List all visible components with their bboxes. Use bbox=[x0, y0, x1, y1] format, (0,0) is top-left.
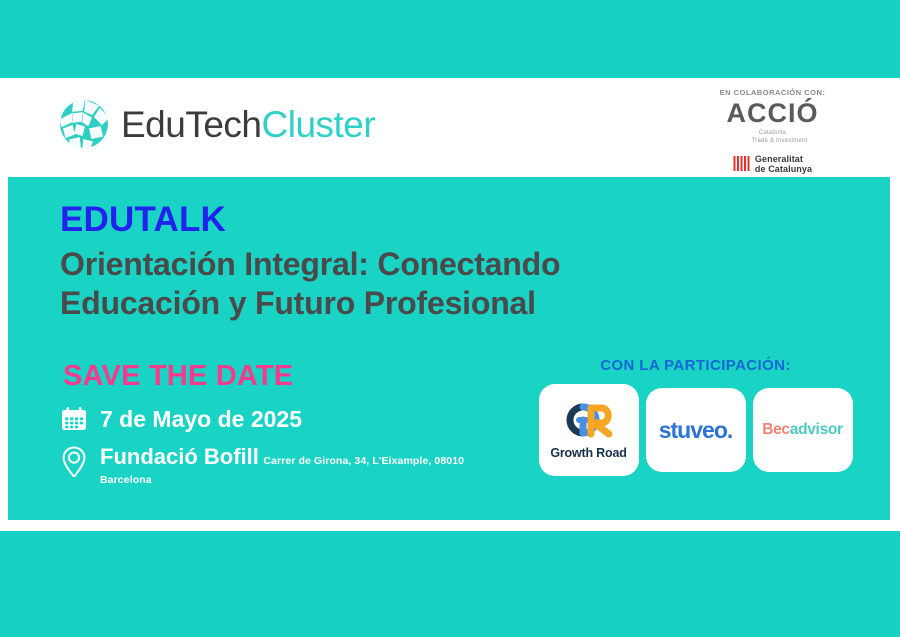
accio-tagline-line2: Trade & Investment bbox=[700, 137, 845, 145]
collaboration-label: EN COLABORACIÓN CON: bbox=[700, 88, 845, 97]
event-date-row: 7 de Mayo de 2025 bbox=[60, 405, 302, 433]
venue-name: Fundació Bofill bbox=[100, 444, 259, 469]
becadvisor-name-part1: Bec bbox=[762, 421, 790, 438]
brand-logo[interactable]: EduTechCluster bbox=[58, 98, 375, 150]
accio-tagline: Catalonia Trade & Investment bbox=[700, 129, 845, 145]
brand-word-cluster: Cluster bbox=[262, 104, 376, 145]
participants-section: CON LA PARTICIPACIÓN: Growth Road stuveo… bbox=[523, 357, 868, 476]
brand-wordmark: EduTechCluster bbox=[121, 106, 375, 143]
participant-logo-strip: Growth Road stuveo. Becadvisor bbox=[523, 384, 868, 476]
gr-monogram-icon bbox=[558, 400, 620, 440]
generalitat-logo: Generalitat de Catalunya bbox=[700, 154, 845, 175]
headline-line-1: Orientación Integral: Conectando bbox=[60, 246, 560, 282]
event-date: 7 de Mayo de 2025 bbox=[100, 408, 302, 431]
growth-road-name: Growth Road bbox=[550, 446, 626, 460]
eyebrow-edutalk: EDUTALK bbox=[60, 202, 226, 237]
becadvisor-name-part2: advisor bbox=[790, 421, 843, 438]
calendar-icon bbox=[60, 405, 88, 433]
top-teal-band bbox=[0, 0, 900, 78]
generalitat-line1: Generalitat bbox=[755, 154, 803, 164]
accio-logo-text: ACCIÓ bbox=[700, 99, 845, 127]
participant-logo-stuveo[interactable]: stuveo. bbox=[646, 388, 746, 472]
bottom-teal-band bbox=[0, 531, 900, 637]
generalitat-line2: de Catalunya bbox=[755, 164, 812, 174]
senyera-flag-icon bbox=[733, 155, 750, 172]
globe-mosaic-icon bbox=[58, 98, 110, 150]
headline-line-2: Educación y Futuro Profesional bbox=[60, 285, 536, 321]
generalitat-text: Generalitat de Catalunya bbox=[755, 154, 812, 175]
map-pin-icon bbox=[60, 445, 88, 479]
event-card: EDUTALK Orientación Integral: Conectando… bbox=[8, 177, 890, 520]
stuveo-name: stuveo. bbox=[659, 417, 733, 444]
becadvisor-name: Becadvisor bbox=[762, 421, 843, 439]
venue-address-line2: Barcelona bbox=[100, 474, 152, 486]
header: EduTechCluster EN COLABORACIÓN CON: ACCI… bbox=[0, 78, 900, 177]
venue-block: Fundació Bofill Carrer de Girona, 34, L'… bbox=[100, 445, 464, 489]
participant-logo-growth-road[interactable]: Growth Road bbox=[539, 384, 639, 476]
participant-logo-becadvisor[interactable]: Becadvisor bbox=[753, 388, 853, 472]
brand-word-edutech: EduTech bbox=[121, 104, 262, 145]
venue-address-line1: Carrer de Girona, 34, L'Eixample, 08010 bbox=[263, 455, 464, 467]
participants-label: CON LA PARTICIPACIÓN: bbox=[523, 357, 868, 374]
collaboration-block: EN COLABORACIÓN CON: ACCIÓ Catalonia Tra… bbox=[700, 88, 845, 174]
event-headline: Orientación Integral: Conectando Educaci… bbox=[60, 245, 560, 323]
accio-tagline-line1: Catalonia bbox=[700, 129, 845, 137]
save-the-date-label: SAVE THE DATE bbox=[63, 362, 293, 391]
event-venue-row: Fundació Bofill Carrer de Girona, 34, L'… bbox=[60, 445, 464, 489]
